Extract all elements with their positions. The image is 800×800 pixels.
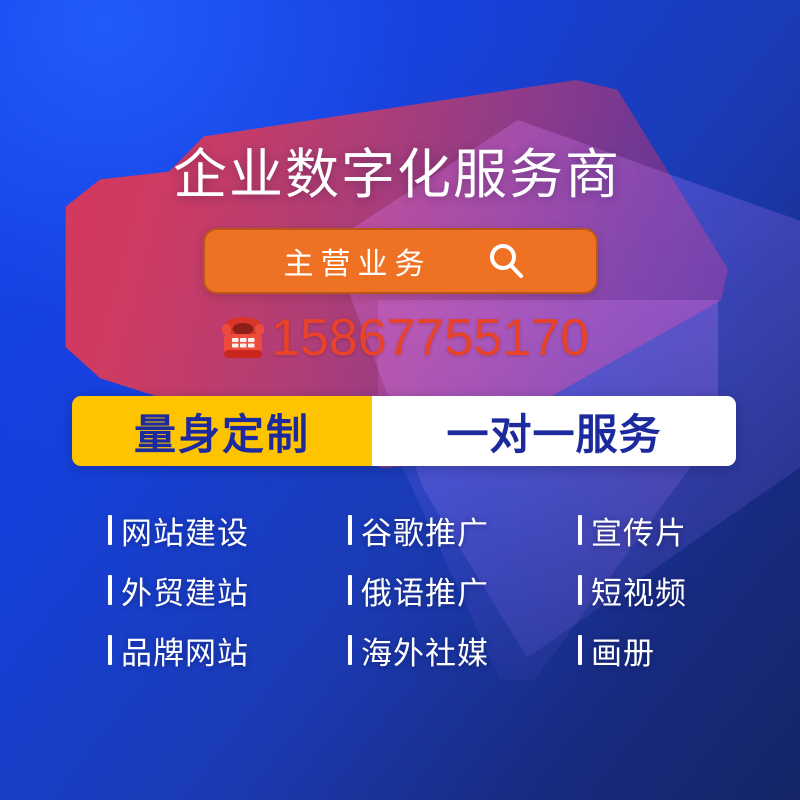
bullet-bar-icon — [578, 515, 582, 545]
bullet-bar-icon — [108, 635, 112, 665]
service-label: 海外社媒 — [361, 628, 489, 673]
list-item[interactable]: 海外社媒 — [348, 628, 578, 673]
service-label: 外贸建站 — [121, 568, 249, 613]
promo-poster: 企业数字化服务商 主营业务 — [0, 0, 800, 800]
poster-content: 企业数字化服务商 主营业务 — [0, 0, 800, 800]
service-label: 画册 — [591, 628, 655, 673]
list-item[interactable]: 外贸建站 — [108, 568, 348, 613]
list-item[interactable]: 俄语推广 — [348, 568, 578, 613]
banner-custom-tailored: 量身定制 — [72, 396, 372, 466]
list-item[interactable]: 宣传片 — [578, 508, 708, 553]
main-business-search-button[interactable]: 主营业务 — [203, 228, 598, 294]
page-title: 企业数字化服务商 — [0, 148, 800, 202]
banner-right-label: 一对一服务 — [446, 401, 661, 462]
list-item[interactable]: 画册 — [578, 628, 708, 673]
banner-one-on-one-service: 一对一服务 — [372, 396, 736, 466]
bullet-bar-icon — [578, 635, 582, 665]
bullet-bar-icon — [108, 575, 112, 605]
service-label: 网站建设 — [121, 508, 249, 553]
search-icon — [486, 241, 526, 281]
main-business-label: 主营业务 — [276, 239, 432, 283]
service-label: 品牌网站 — [121, 628, 249, 673]
phone-number: 15867755170 — [271, 312, 589, 364]
banner-left-label: 量身定制 — [134, 401, 310, 462]
telephone-icon — [217, 312, 269, 364]
service-label: 谷歌推广 — [361, 508, 489, 553]
bullet-bar-icon — [348, 575, 352, 605]
list-item[interactable]: 谷歌推广 — [348, 508, 578, 553]
service-label: 俄语推广 — [361, 568, 489, 613]
bullet-bar-icon — [348, 635, 352, 665]
list-item[interactable]: 品牌网站 — [108, 628, 348, 673]
value-proposition-banner: 量身定制 一对一服务 — [72, 396, 736, 466]
service-label: 短视频 — [591, 568, 687, 613]
bullet-bar-icon — [578, 575, 582, 605]
list-item[interactable]: 网站建设 — [108, 508, 348, 553]
service-label: 宣传片 — [591, 508, 687, 553]
list-item[interactable]: 短视频 — [578, 568, 708, 613]
contact-phone-row[interactable]: 15867755170 — [0, 312, 800, 364]
bullet-bar-icon — [108, 515, 112, 545]
bullet-bar-icon — [348, 515, 352, 545]
service-list: 网站建设 谷歌推广 宣传片 外贸建站 俄语推广 短视频 — [108, 500, 708, 680]
